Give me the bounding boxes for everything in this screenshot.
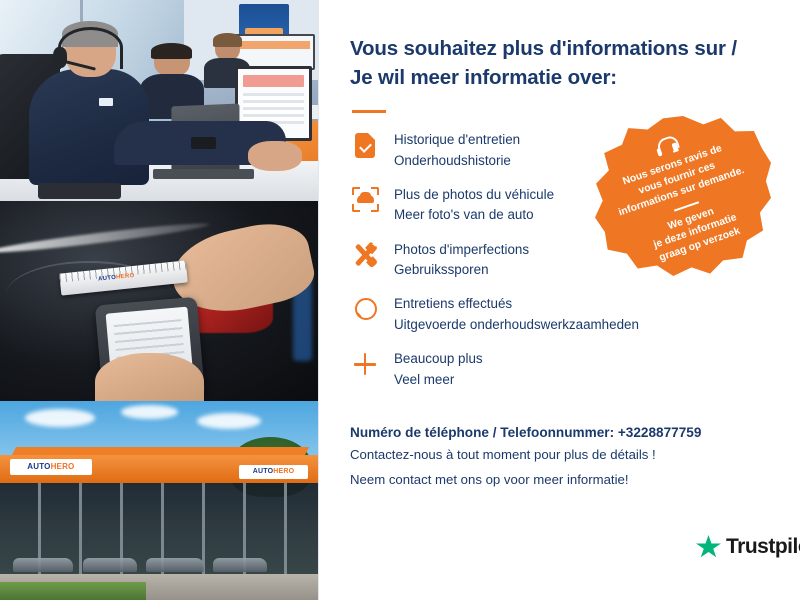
feature-label-nl: Onderhoudshistorie bbox=[394, 151, 520, 171]
feature-item-much-more: Beaucoup plus Veel meer bbox=[350, 348, 800, 390]
trustpilot-widget[interactable]: Trustpilot Excellent • Uitstekend ENTREP… bbox=[696, 518, 800, 567]
headset-earcup bbox=[53, 47, 67, 68]
showroom-car bbox=[83, 558, 137, 572]
agent-two-hair bbox=[151, 43, 192, 59]
feature-text: Photos d'imperfections Gebruikssporen bbox=[394, 239, 529, 281]
magnifier-icon bbox=[350, 293, 380, 325]
grass-strip bbox=[0, 582, 146, 600]
feature-text: Entretiens effectués Uitgevoerde onderho… bbox=[394, 293, 639, 335]
feature-label-fr: Plus de photos du véhicule bbox=[394, 185, 554, 205]
contact-line-fr: Contactez-nous à tout moment pour plus d… bbox=[350, 444, 780, 465]
feature-item-service-history: Historique d'entretien Onderhoudshistori… bbox=[350, 129, 800, 171]
page-title: Vous souhaitez plus d'informations sur /… bbox=[350, 34, 770, 92]
content-column: Vous souhaitez plus d'informations sur /… bbox=[318, 0, 800, 600]
document-check-icon bbox=[350, 129, 380, 161]
feature-label-nl: Meer foto's van de auto bbox=[394, 205, 554, 225]
car-photo-icon bbox=[350, 184, 380, 216]
contact-line-nl: Neem contact met ons op voor meer inform… bbox=[350, 469, 780, 490]
feature-label-nl: Gebruikssporen bbox=[394, 260, 529, 280]
contact-block: Numéro de téléphone / Telefoonnummer: +3… bbox=[350, 425, 780, 491]
trustpilot-star-icon bbox=[696, 535, 721, 559]
agent-three-hair bbox=[213, 33, 242, 47]
tablet-on-desk bbox=[38, 183, 121, 199]
agent-one-hand bbox=[248, 141, 302, 171]
showroom-car bbox=[146, 558, 203, 572]
feature-item-maintenance-done: Entretiens effectués Uitgevoerde onderho… bbox=[350, 293, 800, 335]
feature-text: Plus de photos du véhicule Meer foto's v… bbox=[394, 184, 554, 226]
feature-label-fr: Photos d'imperfections bbox=[394, 240, 529, 260]
autohero-sign-right: AUTOHERO bbox=[239, 465, 309, 479]
call-center-agents-photo bbox=[0, 0, 318, 201]
tools-icon bbox=[350, 239, 380, 271]
autohero-sign-left: AUTOHERO bbox=[10, 459, 93, 475]
feature-label-nl: Veel meer bbox=[394, 370, 483, 390]
feature-item-imperfections: Photos d'imperfections Gebruikssporen bbox=[350, 239, 800, 281]
feature-item-more-photos: Plus de photos du véhicule Meer foto's v… bbox=[350, 184, 800, 226]
showroom-car bbox=[213, 558, 267, 572]
inspector-hand-two bbox=[95, 353, 203, 401]
showroom-car bbox=[13, 558, 73, 572]
page-title-nl: Je wil meer informatie over: bbox=[350, 63, 770, 92]
trustpilot-brand: Trustpilot bbox=[696, 535, 800, 567]
accent-rule bbox=[352, 110, 386, 113]
shirt-badge bbox=[99, 98, 113, 106]
feature-label-fr: Beaucoup plus bbox=[394, 349, 483, 369]
feature-label-fr: Historique d'entretien bbox=[394, 130, 520, 150]
feature-text: Historique d'entretien Onderhoudshistori… bbox=[394, 129, 520, 171]
laptop-base bbox=[153, 169, 255, 179]
cloud bbox=[197, 413, 261, 429]
feature-list: Historique d'entretien Onderhoudshistori… bbox=[350, 129, 800, 390]
plus-icon bbox=[350, 348, 380, 380]
cloud bbox=[121, 405, 178, 419]
feature-label-fr: Entretiens effectués bbox=[394, 294, 639, 314]
wristwatch bbox=[191, 137, 216, 149]
vehicle-inspection-photo: AUTOHERO bbox=[0, 201, 318, 401]
photo-column: AUTOHERO AUTOHERO AUTOHERO bbox=[0, 0, 318, 600]
information-request-panel: AUTOHERO AUTOHERO AUTOHERO bbox=[0, 0, 800, 600]
feature-text: Beaucoup plus Veel meer bbox=[394, 348, 483, 390]
cloud bbox=[25, 409, 95, 427]
phone-number-label[interactable]: Numéro de téléphone / Telefoonnummer: +3… bbox=[350, 425, 780, 440]
feature-label-nl: Uitgevoerde onderhoudswerkzaamheden bbox=[394, 315, 639, 335]
trustpilot-wordmark: Trustpilot bbox=[726, 535, 800, 559]
page-title-fr: Vous souhaitez plus d'informations sur / bbox=[350, 34, 770, 63]
autohero-showroom-photo: AUTOHERO AUTOHERO bbox=[0, 401, 318, 600]
